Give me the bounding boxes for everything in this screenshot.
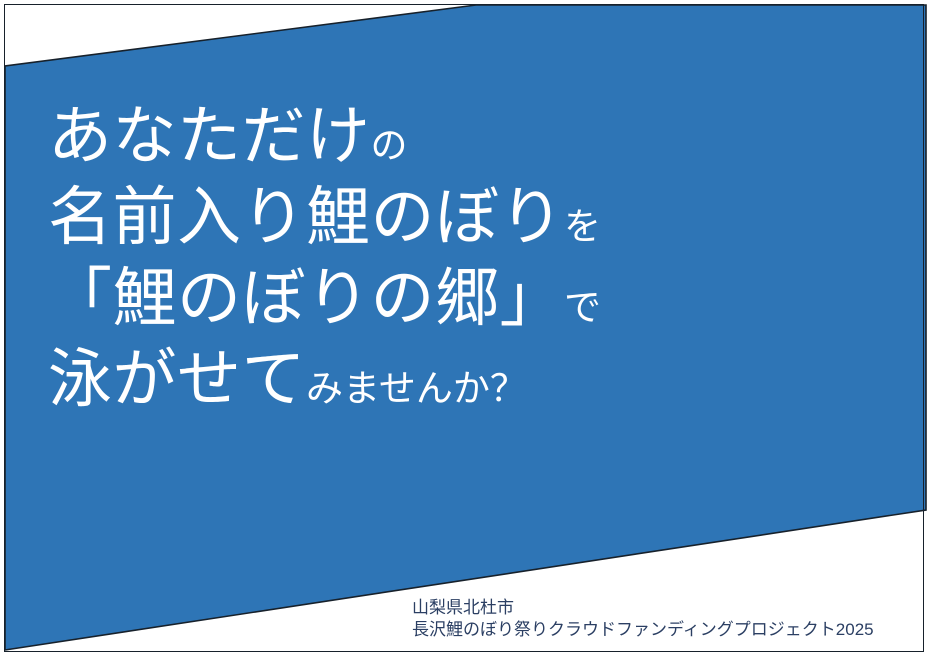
headline-line-3-particle: で [564, 287, 601, 328]
headline-line-3: 「鯉のぼりの郷」で [48, 266, 768, 330]
headline-line-1: あなただけの [48, 104, 768, 168]
headline-line-4-particle: みませんか？ [306, 368, 527, 409]
headline-line-4: 泳がせてみませんか？ [48, 347, 768, 411]
headline-line-4-main: 泳がせて [48, 343, 306, 415]
headline-line-2-main: 名前入り鯉のぼり [48, 181, 564, 253]
footer-line-project: 長沢鯉のぼり祭りクラウドファンディングプロジェクト2025 [412, 619, 874, 641]
headline-line-1-main: あなただけ [48, 100, 371, 172]
headline-line-1-particle: の [371, 125, 408, 166]
footer-line-city: 山梨県北杜市 [412, 597, 874, 619]
headline-line-2: 名前入り鯉のぼりを [48, 185, 768, 249]
presentation-slide: あなただけの 名前入り鯉のぼりを 「鯉のぼりの郷」で 泳がせてみませんか？ 山梨… [0, 0, 941, 660]
headline-line-2-particle: を [564, 206, 601, 247]
headline-block: あなただけの 名前入り鯉のぼりを 「鯉のぼりの郷」で 泳がせてみませんか？ [48, 104, 768, 428]
headline-line-3-main: 「鯉のぼりの郷」 [48, 262, 564, 334]
footer-caption: 山梨県北杜市 長沢鯉のぼり祭りクラウドファンディングプロジェクト2025 [412, 597, 874, 642]
